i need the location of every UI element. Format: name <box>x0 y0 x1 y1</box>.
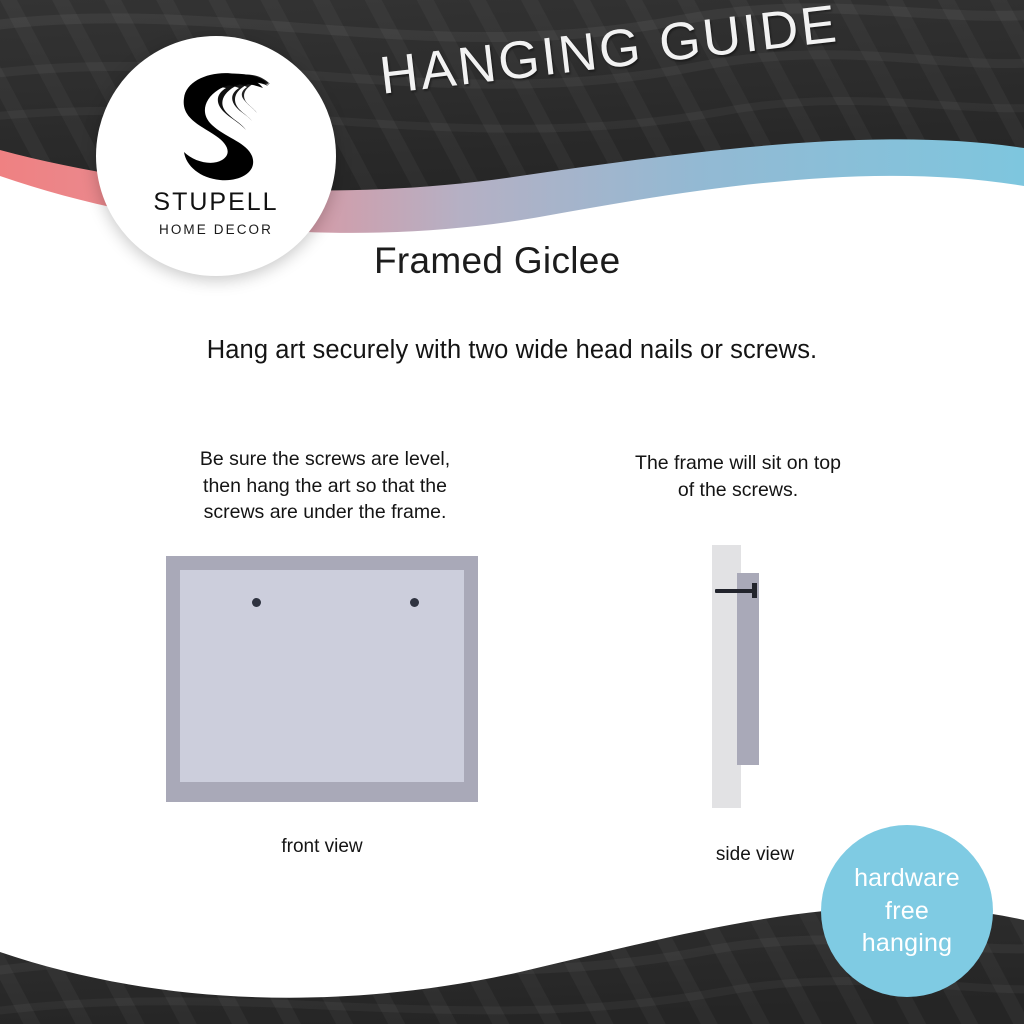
side-view-frame-diagram <box>700 545 810 809</box>
hanging-guide-page: STUPELL HOME DECOR HANGING GUIDE Framed … <box>0 0 1024 1024</box>
caption-line: The frame will sit on top <box>600 450 876 477</box>
caption-line: then hang the art so that the <box>175 473 475 500</box>
caption-line: Be sure the screws are level, <box>175 446 475 473</box>
badge-line: hanging <box>862 927 952 960</box>
caption-line: screws are under the frame. <box>175 499 475 526</box>
product-subtitle: Framed Giclee <box>374 240 621 282</box>
side-view-caption: The frame will sit on top of the screws. <box>600 450 876 503</box>
badge-line: hardware <box>854 862 960 895</box>
front-view-inner-panel <box>180 570 464 782</box>
caption-line: of the screws. <box>600 477 876 504</box>
front-view-caption: Be sure the screws are level, then hang … <box>175 446 475 526</box>
side-view-label: side view <box>660 844 850 866</box>
logo-wordmark: STUPELL <box>96 188 336 217</box>
screw-dot-right <box>410 598 419 607</box>
side-view-frame-bar <box>737 573 759 765</box>
hardware-free-hanging-badge: hardware free hanging <box>821 825 993 997</box>
main-instruction-text: Hang art securely with two wide head nai… <box>0 336 1024 365</box>
screw-dot-left <box>252 598 261 607</box>
front-view-label: front view <box>176 836 468 858</box>
logo-subwordmark: HOME DECOR <box>96 222 336 237</box>
nail-shaft-icon <box>715 589 756 593</box>
stupell-swoosh-icon <box>160 62 272 182</box>
stupell-logo-badge: STUPELL HOME DECOR <box>96 36 336 276</box>
page-title: HANGING GUIDE <box>376 0 880 107</box>
nail-head-icon <box>752 583 757 598</box>
badge-line: free <box>885 895 929 928</box>
front-view-frame-diagram <box>166 556 478 802</box>
